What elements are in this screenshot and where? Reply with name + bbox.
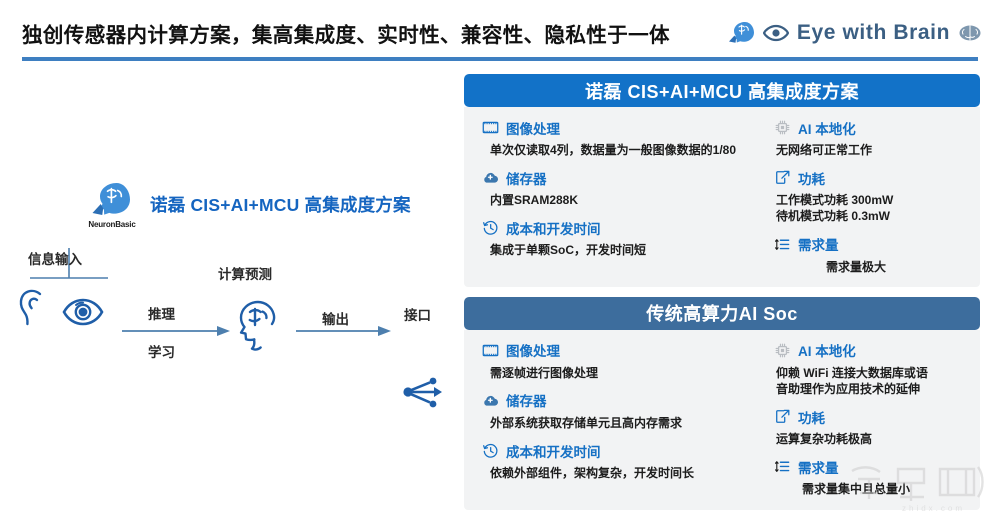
feature-header: 需求量	[774, 235, 976, 254]
card-column-right: AI 本地化无网络可正常工作功耗工作模式功耗 300mW 待机模式功耗 0.3m…	[760, 118, 980, 275]
cloud-plus-icon	[482, 392, 499, 409]
feature-header: 储存器	[482, 168, 756, 187]
feature-title: AI 本地化	[798, 340, 856, 360]
comparison-card: 诺磊 CIS+AI+MCU 高集成度方案图像处理单次仅读取4列，数据量为一般图像…	[464, 74, 980, 287]
flow-label-input: 信息输入	[28, 248, 82, 268]
card-column-right: AI 本地化仰赖 WiFi 连接大数据库或语 音助理作为应用技术的延伸功耗运算复…	[760, 341, 980, 498]
feature-item: 图像处理需逐帧进行图像处理	[464, 341, 760, 381]
cloud-plus-icon	[482, 169, 499, 186]
card-body: 图像处理需逐帧进行图像处理储存器外部系统获取存储单元且高内存需求成本和开发时间依…	[464, 330, 980, 510]
feature-text: 运算复杂功耗极高	[774, 431, 976, 447]
card-title: 传统高算力AI Soc	[464, 297, 980, 330]
arrow-out-box-icon	[774, 169, 791, 186]
feature-title: 图像处理	[506, 340, 560, 360]
flow-label-learning: 学习	[148, 341, 175, 361]
card-body: 图像处理单次仅读取4列，数据量为一般图像数据的1/80储存器内置SRAM288K…	[464, 107, 980, 287]
feature-item: 图像处理单次仅读取4列，数据量为一般图像数据的1/80	[464, 118, 760, 158]
left-diagram-panel: NeuronBasic 诺磊 CIS+AI+MCU 高集成度方案	[0, 66, 462, 521]
feature-title: 需求量	[798, 234, 839, 254]
feature-title: 成本和开发时间	[506, 441, 601, 461]
feature-text: 无网络可正常工作	[774, 142, 976, 158]
eye-icon	[763, 23, 789, 43]
feature-item: 功耗运算复杂功耗极高	[760, 407, 980, 447]
brain-head-icon	[725, 19, 755, 47]
feature-title: 功耗	[798, 168, 825, 188]
feature-header: 功耗	[774, 407, 976, 426]
feature-text: 集成于单颗SoC，开发时间短	[482, 242, 756, 258]
film-frame-icon	[482, 119, 499, 136]
feature-header: 成本和开发时间	[482, 218, 756, 237]
feature-item: AI 本地化无网络可正常工作	[760, 118, 980, 158]
arrow-out-box-icon	[774, 408, 791, 425]
sort-list-icon	[774, 458, 791, 475]
feature-header: 储存器	[482, 391, 756, 410]
feature-header: AI 本地化	[774, 341, 976, 360]
card-column-left: 图像处理单次仅读取4列，数据量为一般图像数据的1/80储存器内置SRAM288K…	[464, 118, 760, 275]
feature-text: 需求量极大	[774, 259, 976, 275]
clock-history-icon	[482, 442, 499, 459]
feature-header: 功耗	[774, 168, 976, 187]
card-title: 诺磊 CIS+AI+MCU 高集成度方案	[464, 74, 980, 107]
card-column-left: 图像处理需逐帧进行图像处理储存器外部系统获取存储单元且高内存需求成本和开发时间依…	[464, 341, 760, 498]
feature-item: 需求量需求量集中且总量小	[760, 457, 980, 497]
feature-text: 仰赖 WiFi 连接大数据库或语 音助理作为应用技术的延伸	[774, 365, 976, 397]
feature-title: 图像处理	[506, 118, 560, 138]
film-frame-icon	[482, 342, 499, 359]
feature-text: 单次仅读取4列，数据量为一般图像数据的1/80	[482, 142, 756, 158]
flow-label-output: 输出	[322, 308, 349, 328]
feature-title: 储存器	[506, 168, 547, 188]
feature-title: 储存器	[506, 390, 547, 410]
feature-text: 需求量集中且总量小	[774, 481, 976, 497]
page-title: 独创传感器内计算方案，集高集成度、实时性、兼容性、隐私性于一体	[22, 18, 670, 48]
sort-list-icon	[774, 236, 791, 253]
cpu-chip-icon	[774, 119, 791, 136]
feature-text: 内置SRAM288K	[482, 192, 756, 208]
feature-title: 成本和开发时间	[506, 218, 601, 238]
feature-item: AI 本地化仰赖 WiFi 连接大数据库或语 音助理作为应用技术的延伸	[760, 341, 980, 397]
flow-label-interface: 接口	[404, 304, 431, 324]
header-divider	[22, 57, 978, 61]
flow-diagram	[0, 66, 462, 521]
brand-logo: Eye with Brain	[725, 19, 982, 47]
feature-title: 功耗	[798, 407, 825, 427]
feature-item: 成本和开发时间依赖外部组件，架构复杂，开发时间长	[464, 441, 760, 481]
feature-header: 图像处理	[482, 118, 756, 137]
comparison-card: 传统高算力AI Soc图像处理需逐帧进行图像处理储存器外部系统获取存储单元且高内…	[464, 297, 980, 510]
feature-header: 成本和开发时间	[482, 441, 756, 460]
flow-label-inference: 推理	[148, 303, 175, 323]
page-header: 独创传感器内计算方案，集高集成度、实时性、兼容性、隐私性于一体 Eye with…	[0, 0, 1000, 62]
feature-title: AI 本地化	[798, 118, 856, 138]
brand-text: Eye with Brain	[797, 21, 950, 45]
feature-item: 需求量需求量极大	[760, 235, 980, 275]
feature-header: AI 本地化	[774, 118, 976, 137]
cpu-chip-icon	[774, 342, 791, 359]
brain-icon	[958, 24, 982, 42]
feature-text: 需逐帧进行图像处理	[482, 365, 756, 381]
comparison-cards: 诺磊 CIS+AI+MCU 高集成度方案图像处理单次仅读取4列，数据量为一般图像…	[464, 74, 980, 520]
feature-item: 成本和开发时间集成于单颗SoC，开发时间短	[464, 218, 760, 258]
feature-item: 储存器外部系统获取存储单元且高内存需求	[464, 391, 760, 431]
feature-item: 储存器内置SRAM288K	[464, 168, 760, 208]
feature-text: 外部系统获取存储单元且高内存需求	[482, 415, 756, 431]
feature-text: 依赖外部组件，架构复杂，开发时间长	[482, 465, 756, 481]
feature-item: 功耗工作模式功耗 300mW 待机模式功耗 0.3mW	[760, 168, 980, 224]
flow-label-predict: 计算预测	[218, 263, 272, 283]
feature-header: 需求量	[774, 457, 976, 476]
feature-text: 工作模式功耗 300mW 待机模式功耗 0.3mW	[774, 192, 976, 224]
feature-title: 需求量	[798, 457, 839, 477]
clock-history-icon	[482, 219, 499, 236]
feature-header: 图像处理	[482, 341, 756, 360]
